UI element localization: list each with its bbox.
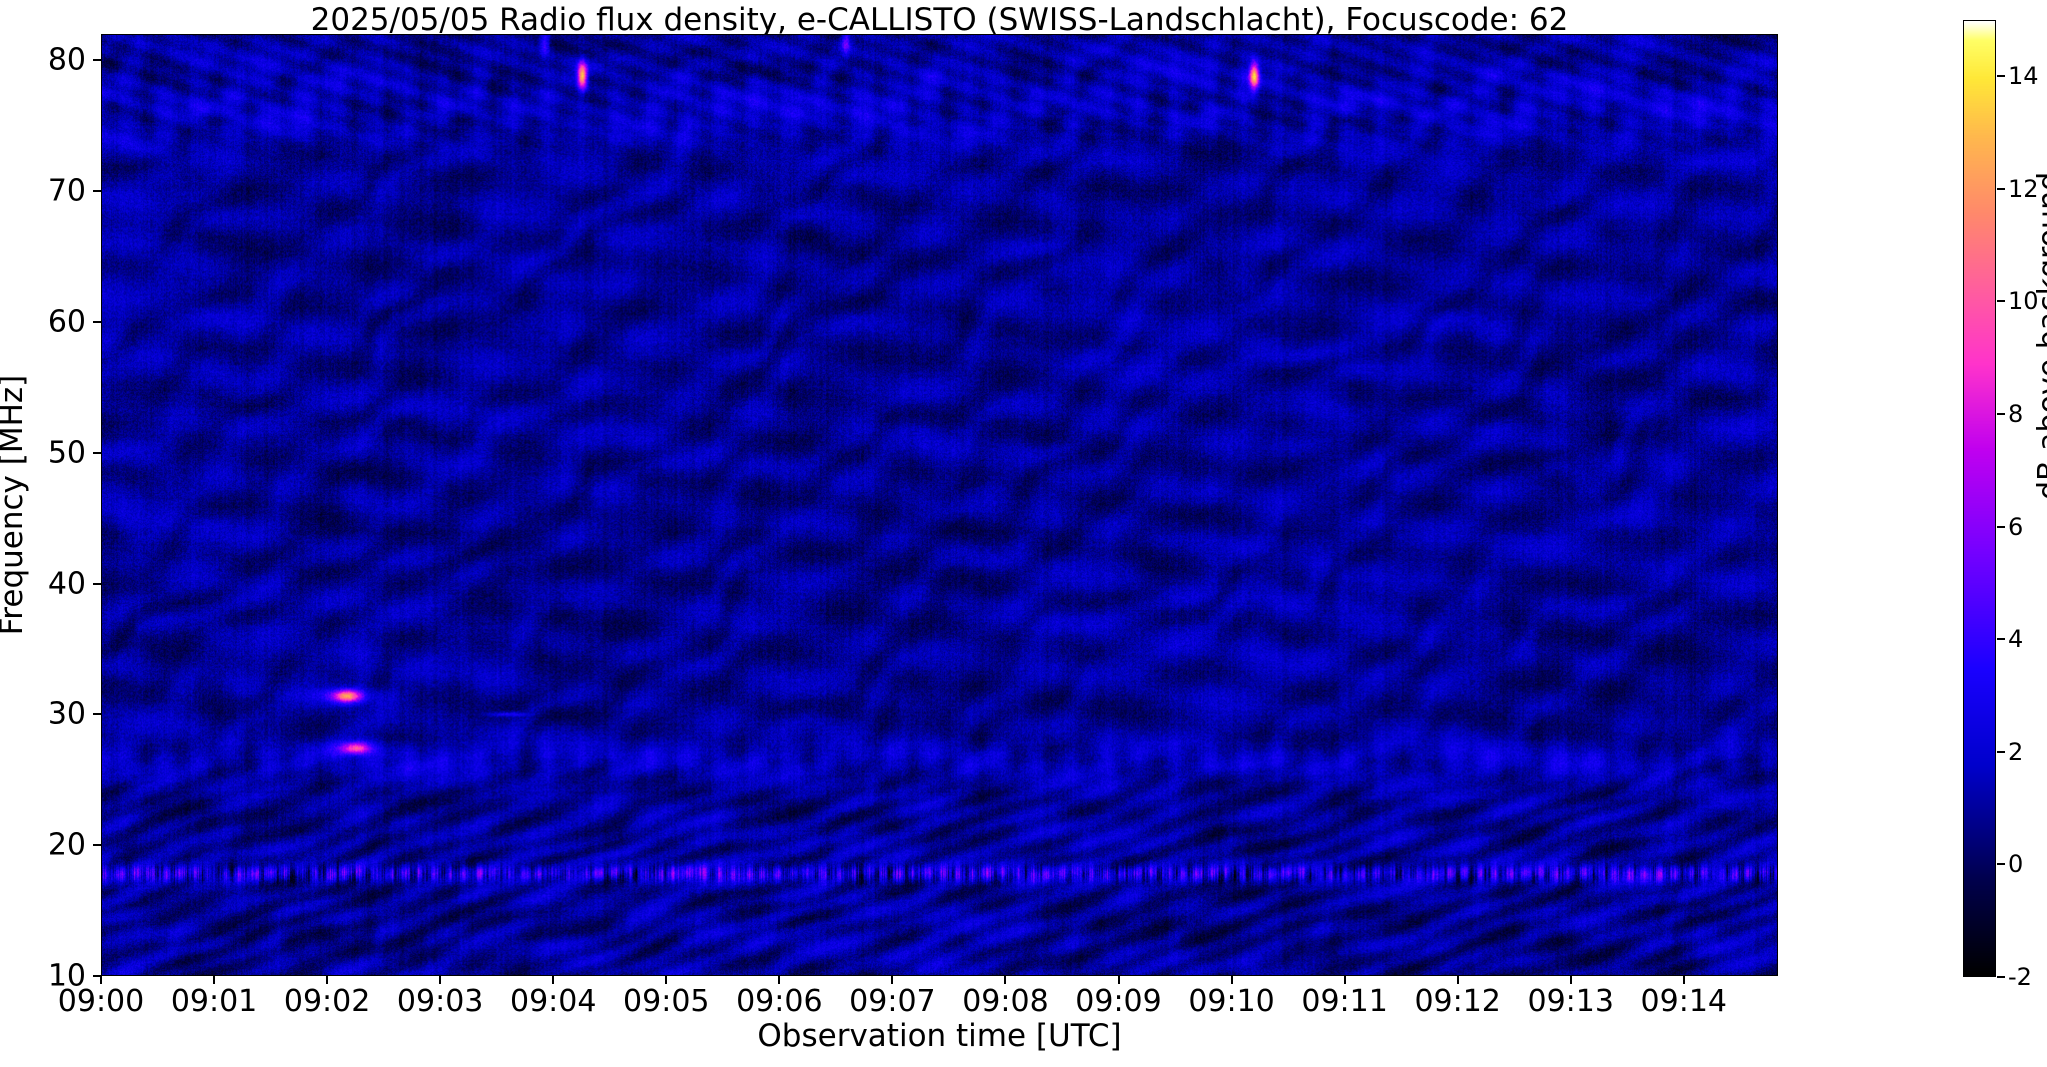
colorbar-tick-label: 0 [2008,850,2023,878]
x-tick-mark [1344,976,1346,984]
y-tick-mark [93,713,101,715]
colorbar-tick-mark [1997,300,2005,302]
colorbar-tick-mark [1997,75,2005,77]
x-tick-mark [552,976,554,984]
x-tick-mark [100,976,102,984]
colorbar-gradient [1964,21,1995,976]
y-tick-mark [93,583,101,585]
x-tick-label: 09:00 [58,984,144,1019]
colorbar-tick-mark [1997,413,2005,415]
figure-root: 2025/05/05 Radio flux density, e-CALLIST… [0,0,2047,1067]
y-tick-mark [93,190,101,192]
colorbar-tick-label: 6 [2008,513,2023,541]
x-tick-mark [213,976,215,984]
x-tick-label: 09:08 [962,984,1048,1019]
x-tick-mark [665,976,667,984]
colorbar-tick-label: 4 [2008,625,2023,653]
y-tick-label: 80 [0,43,86,78]
colorbar-tick-mark [1997,526,2005,528]
x-tick-label: 09:13 [1527,984,1613,1019]
colorbar-tick-mark [1997,751,2005,753]
x-tick-label: 09:02 [284,984,370,1019]
chart-title: 2025/05/05 Radio flux density, e-CALLIST… [101,2,1778,38]
x-tick-mark [1231,976,1233,984]
y-tick-mark [93,452,101,454]
x-tick-label: 09:12 [1414,984,1500,1019]
x-tick-mark [1004,976,1006,984]
x-tick-mark [1570,976,1572,984]
x-tick-label: 09:07 [849,984,935,1019]
y-tick-label: 30 [0,697,86,732]
y-tick-label: 60 [0,304,86,339]
x-tick-mark [326,976,328,984]
x-tick-label: 09:04 [510,984,596,1019]
x-tick-mark [1457,976,1459,984]
colorbar-tick-mark [1997,976,2005,978]
x-tick-label: 09:09 [1075,984,1161,1019]
y-tick-mark [93,844,101,846]
x-tick-label: 09:14 [1641,984,1727,1019]
colorbar-tick-label: -2 [2008,963,2032,991]
y-tick-mark [93,321,101,323]
x-tick-label: 09:01 [171,984,257,1019]
x-axis-label: Observation time [UTC] [101,1018,1778,1054]
y-tick-mark [93,59,101,61]
y-tick-label: 20 [0,828,86,863]
spectrogram-plot[interactable] [101,34,1778,976]
x-tick-label: 09:10 [1188,984,1274,1019]
x-tick-mark [1118,976,1120,984]
x-tick-mark [891,976,893,984]
colorbar-label: dB above background [2032,172,2047,500]
x-tick-label: 09:06 [736,984,822,1019]
x-tick-mark [439,976,441,984]
spectrogram-canvas [102,35,1777,975]
colorbar-tick-mark [1997,638,2005,640]
x-tick-label: 09:03 [397,984,483,1019]
x-tick-label: 09:05 [623,984,709,1019]
colorbar-tick-label: 14 [2008,62,2039,90]
colorbar-tick-mark [1997,188,2005,190]
x-tick-label: 09:11 [1301,984,1387,1019]
x-tick-mark [1683,976,1685,984]
x-tick-mark [778,976,780,984]
colorbar [1963,20,1996,977]
colorbar-tick-label: 2 [2008,738,2023,766]
colorbar-tick-label: 8 [2008,400,2023,428]
y-axis-label: Frequency [MHz] [0,375,30,636]
y-tick-label: 70 [0,174,86,209]
colorbar-tick-mark [1997,863,2005,865]
